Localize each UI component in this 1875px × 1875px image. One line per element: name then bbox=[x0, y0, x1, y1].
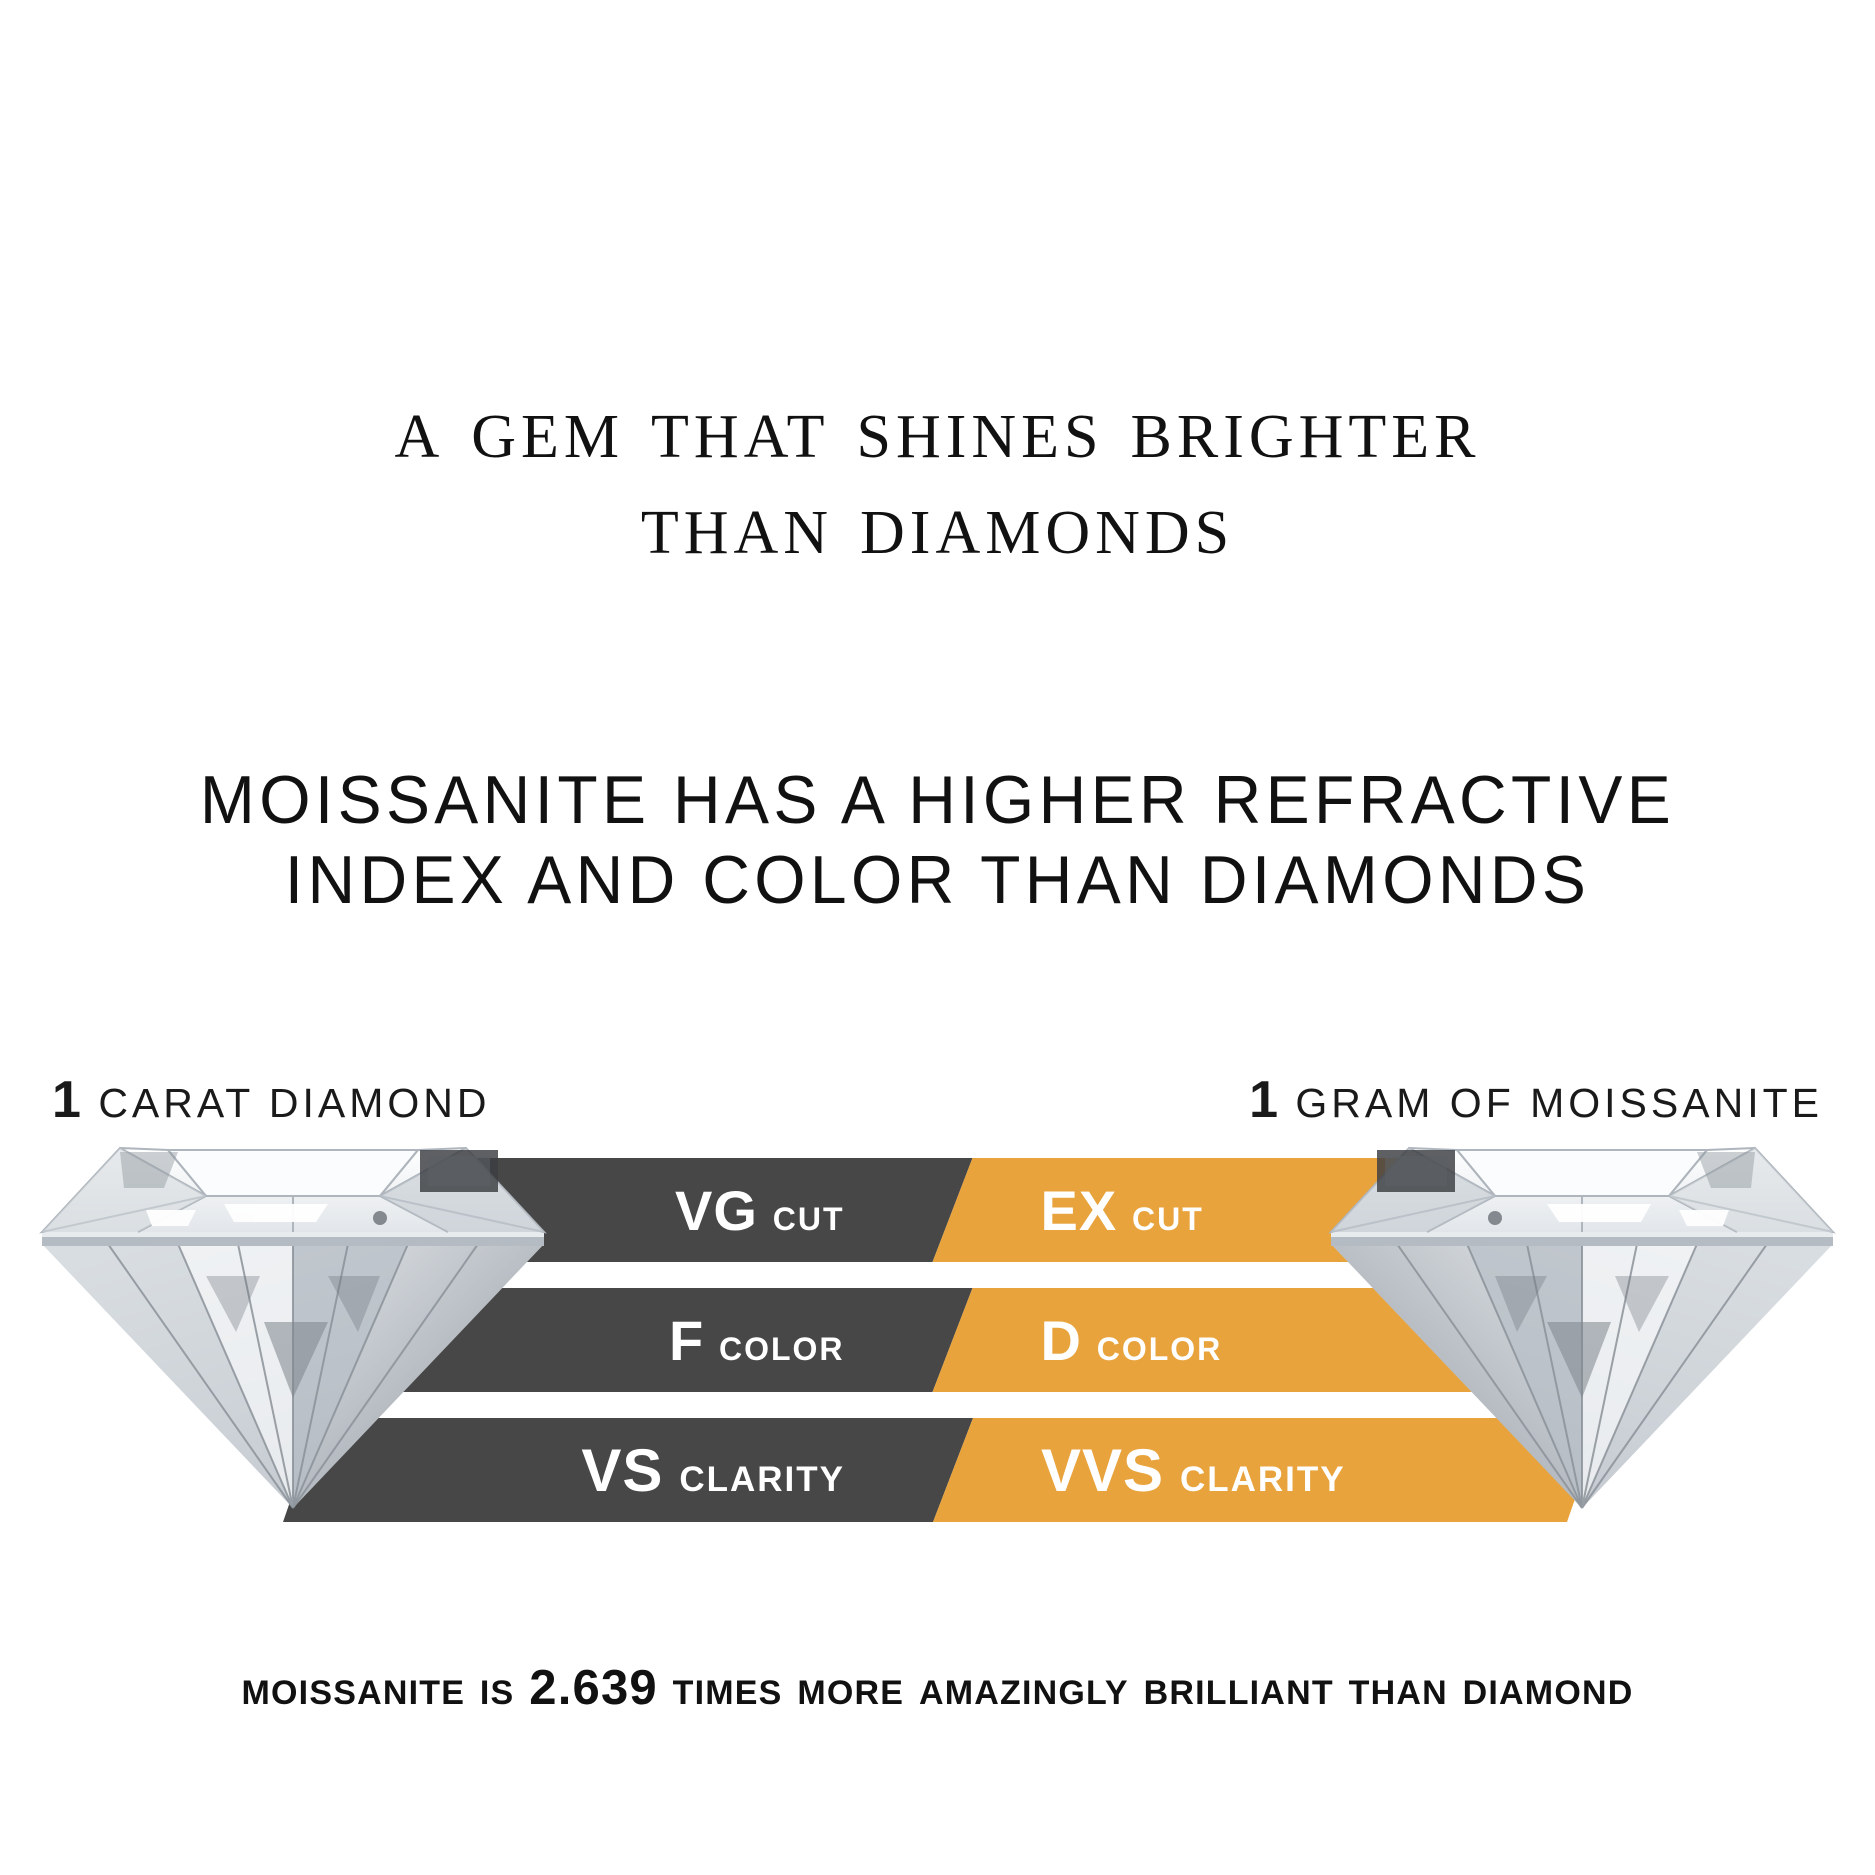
diamond-color-attribute: color bbox=[719, 1318, 845, 1370]
page-subtitle: Moissanite has a higher refractive index… bbox=[28, 760, 1847, 920]
comparison-section: 1 carat diamond 1 gram of moissanite VG … bbox=[0, 1070, 1875, 1570]
comparison-row-cut: VG cut EX cut bbox=[355, 1158, 1530, 1262]
footer-claim: Moissanite is 2.639 times more amazingly… bbox=[0, 1660, 1875, 1716]
diamond-color-text: F color bbox=[669, 1308, 845, 1373]
diamond-cut-attribute: cut bbox=[773, 1188, 845, 1240]
diamond-cut-text: VG cut bbox=[675, 1178, 844, 1243]
moissanite-label-quantity: 1 bbox=[1249, 1071, 1280, 1129]
diamond-clarity-attribute: clarity bbox=[679, 1446, 845, 1502]
comparison-bars: VG cut EX cut F color D color VS clarity bbox=[0, 1158, 1875, 1558]
moissanite-color-grade: D bbox=[1041, 1309, 1082, 1372]
infographic-page: A gem that shines brighter than diamonds… bbox=[0, 0, 1875, 1875]
diamond-bar-color: F color bbox=[320, 1288, 973, 1392]
moissanite-bar-clarity: VVS clarity bbox=[933, 1418, 1603, 1522]
moissanite-column-label: 1 gram of moissanite bbox=[1249, 1070, 1823, 1130]
moissanite-bar-color: D color bbox=[933, 1288, 1566, 1392]
moissanite-clarity-attribute: clarity bbox=[1180, 1446, 1346, 1502]
page-title-line-1: A gem that shines brighter bbox=[0, 385, 1875, 473]
diamond-clarity-text: VS clarity bbox=[581, 1436, 845, 1505]
moissanite-clarity-grade: VVS bbox=[1041, 1437, 1164, 1504]
page-subtitle-line-2: index and color than diamonds bbox=[28, 840, 1847, 920]
moissanite-color-text: D color bbox=[1041, 1308, 1223, 1373]
diamond-label-quantity: 1 bbox=[52, 1071, 83, 1129]
comparison-row-color: F color D color bbox=[320, 1288, 1565, 1392]
page-title-line-2: than diamonds bbox=[0, 481, 1875, 569]
diamond-bar-cut: VG cut bbox=[355, 1158, 973, 1262]
moissanite-label-text: gram of moissanite bbox=[1295, 1080, 1823, 1126]
diamond-label-text: carat diamond bbox=[98, 1080, 490, 1126]
diamond-column-label: 1 carat diamond bbox=[52, 1070, 491, 1130]
comparison-row-clarity: VS clarity VVS clarity bbox=[283, 1418, 1603, 1522]
moissanite-cut-grade: EX bbox=[1041, 1179, 1118, 1242]
moissanite-bar-cut: EX cut bbox=[933, 1158, 1531, 1262]
moissanite-cut-attribute: cut bbox=[1132, 1188, 1204, 1240]
diamond-color-grade: F bbox=[669, 1309, 704, 1372]
moissanite-clarity-text: VVS clarity bbox=[1041, 1436, 1346, 1505]
page-subtitle-line-1: Moissanite has a higher refractive bbox=[28, 760, 1847, 840]
moissanite-cut-text: EX cut bbox=[1041, 1178, 1204, 1243]
diamond-clarity-grade: VS bbox=[581, 1437, 663, 1504]
page-title: A gem that shines brighter than diamonds bbox=[0, 385, 1875, 569]
diamond-bar-clarity: VS clarity bbox=[283, 1418, 973, 1522]
moissanite-color-attribute: color bbox=[1097, 1318, 1223, 1370]
diamond-cut-grade: VG bbox=[675, 1179, 758, 1242]
